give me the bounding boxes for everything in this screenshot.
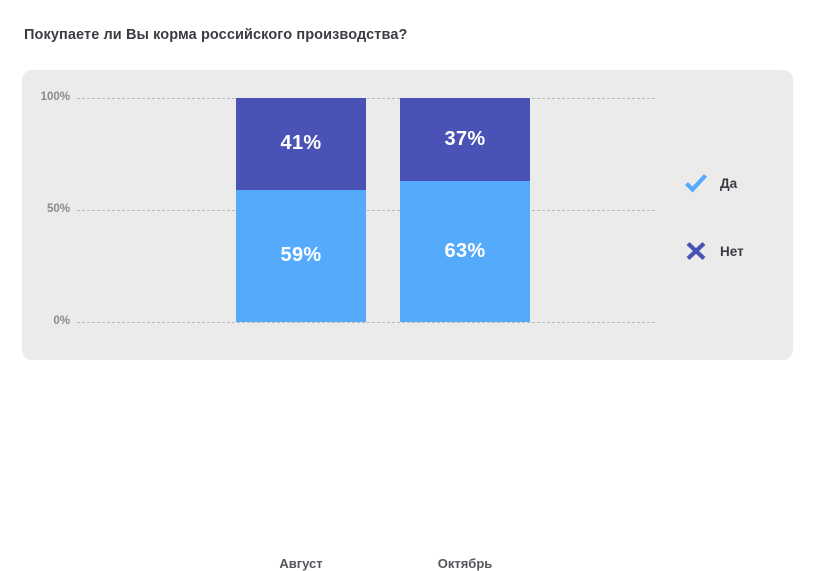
chart-legend: Да Нет xyxy=(682,170,792,306)
check-icon xyxy=(682,171,710,195)
gridline-100 xyxy=(77,98,655,99)
bar-segment-october-no[interactable]: 37% xyxy=(400,98,530,181)
legend-label-no: Нет xyxy=(720,244,744,259)
bar-stack-august: 41% 59% xyxy=(236,98,366,322)
x-axis-label-october: Октябрь xyxy=(400,556,530,571)
legend-item-yes[interactable]: Да xyxy=(682,170,792,196)
x-axis-label-august: Август xyxy=(236,556,366,571)
bar-stack-october: 37% 63% xyxy=(400,98,530,322)
cross-icon xyxy=(682,239,710,263)
gridline-0 xyxy=(77,322,655,323)
chart-card: 100% 50% 0% 41% 59% Август 37% 63% Октяб… xyxy=(22,70,793,360)
bar-segment-august-yes[interactable]: 59% xyxy=(236,190,366,322)
plot-area: 100% 50% 0% 41% 59% Август 37% 63% Октяб… xyxy=(22,70,793,360)
gridline-50 xyxy=(77,210,655,211)
page-title: Покупаете ли Вы корма российского произв… xyxy=(24,27,407,43)
legend-item-no[interactable]: Нет xyxy=(682,238,792,264)
page-root: Покупаете ли Вы корма российского произв… xyxy=(0,0,816,400)
y-axis-tick-100: 100% xyxy=(22,91,70,103)
bar-segment-october-yes[interactable]: 63% xyxy=(400,181,530,322)
bar-segment-august-no[interactable]: 41% xyxy=(236,98,366,190)
y-axis-tick-0: 0% xyxy=(22,315,70,327)
y-axis-tick-50: 50% xyxy=(22,203,70,215)
legend-label-yes: Да xyxy=(720,176,737,191)
